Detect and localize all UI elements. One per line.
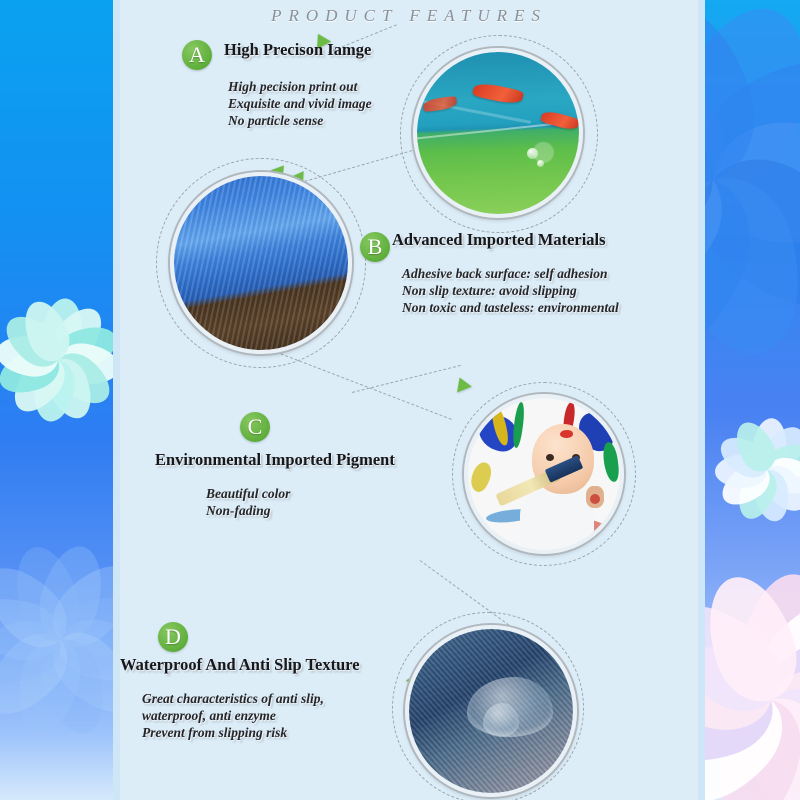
feature-body-b: Adhesive back surface: self adhesion Non… <box>402 265 619 316</box>
left-blue-gradient-border <box>0 0 113 800</box>
feature-b-line-2: Non slip texture: avoid slipping <box>402 282 619 299</box>
content-panel: PRODUCT FEATURES A High Precison I <box>120 0 698 800</box>
feature-c-line-1: Beautiful color <box>206 485 290 502</box>
baby-painting-photo <box>468 398 620 550</box>
connector-c-to-d <box>352 365 461 393</box>
feature-d-line-1: Great characteristics of anti slip, <box>142 690 324 707</box>
feature-badge-b: B <box>360 232 390 262</box>
left-strip-divider <box>113 0 120 800</box>
feature-photo-d <box>405 625 577 797</box>
feature-heading-b: Advanced Imported Materials <box>392 230 606 250</box>
feature-a-line-3: No particle sense <box>228 112 372 129</box>
right-blue-gradient-border <box>705 0 800 800</box>
right-strip-divider <box>698 0 705 800</box>
feature-d-line-3: Prevent from slipping risk <box>142 724 324 741</box>
feature-heading-a: High Precison Iamge <box>224 40 371 60</box>
feature-photo-b <box>170 172 352 354</box>
page-title: PRODUCT FEATURES <box>120 6 698 26</box>
product-features-infographic: PRODUCT FEATURES A High Precison I <box>0 0 800 800</box>
feature-photo-a <box>413 48 583 218</box>
feature-b-line-3: Non toxic and tasteless: environmental <box>402 299 619 316</box>
waterproof-texture-droplet-photo <box>409 629 573 793</box>
feature-heading-c: Environmental Imported Pigment <box>155 450 395 470</box>
feature-c-line-2: Non-fading <box>206 502 290 519</box>
feature-b-line-1: Adhesive back surface: self adhesion <box>402 265 619 282</box>
feature-a-line-1: High pecision print out <box>228 78 372 95</box>
feature-d-line-2: waterproof, anti enzyme <box>142 707 324 724</box>
arrow-up-to-circle-c <box>452 374 472 392</box>
blue-fabric-texture-photo <box>174 176 348 350</box>
feature-body-a: High pecision print out Exquisite and vi… <box>228 78 372 129</box>
feature-badge-d: D <box>158 622 188 652</box>
feature-badge-a: A <box>182 40 212 70</box>
feature-body-c: Beautiful color Non-fading <box>206 485 290 519</box>
koi-fish-mat-photo <box>417 52 579 214</box>
feature-badge-c: C <box>240 412 270 442</box>
feature-photo-c <box>464 394 624 554</box>
feature-body-d: Great characteristics of anti slip, wate… <box>142 690 324 741</box>
feature-heading-d: Waterproof And Anti Slip Texture <box>120 655 360 675</box>
feature-a-line-2: Exquisite and vivid image <box>228 95 372 112</box>
